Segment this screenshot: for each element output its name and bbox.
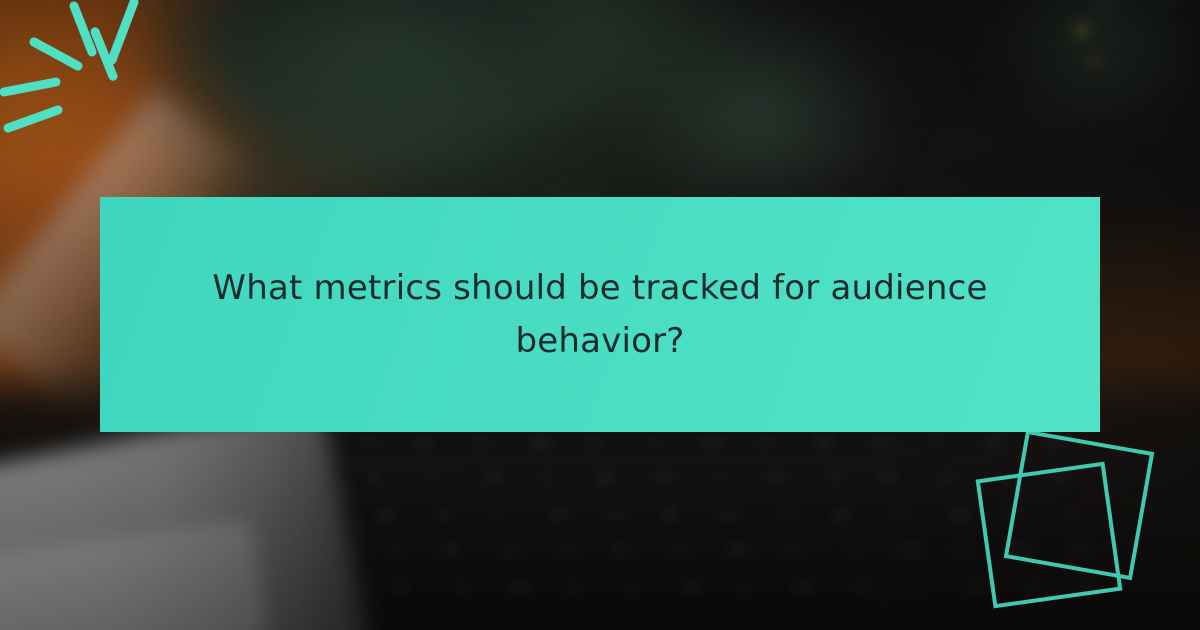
share-card-canvas: What metrics should be tracked for audie… (0, 0, 1200, 630)
overlapping-squares-icon (970, 400, 1200, 630)
sparkle-burst-icon (0, 0, 170, 150)
headline-card: What metrics should be tracked for audie… (100, 197, 1100, 432)
headline-text: What metrics should be tracked for audie… (200, 262, 1000, 367)
